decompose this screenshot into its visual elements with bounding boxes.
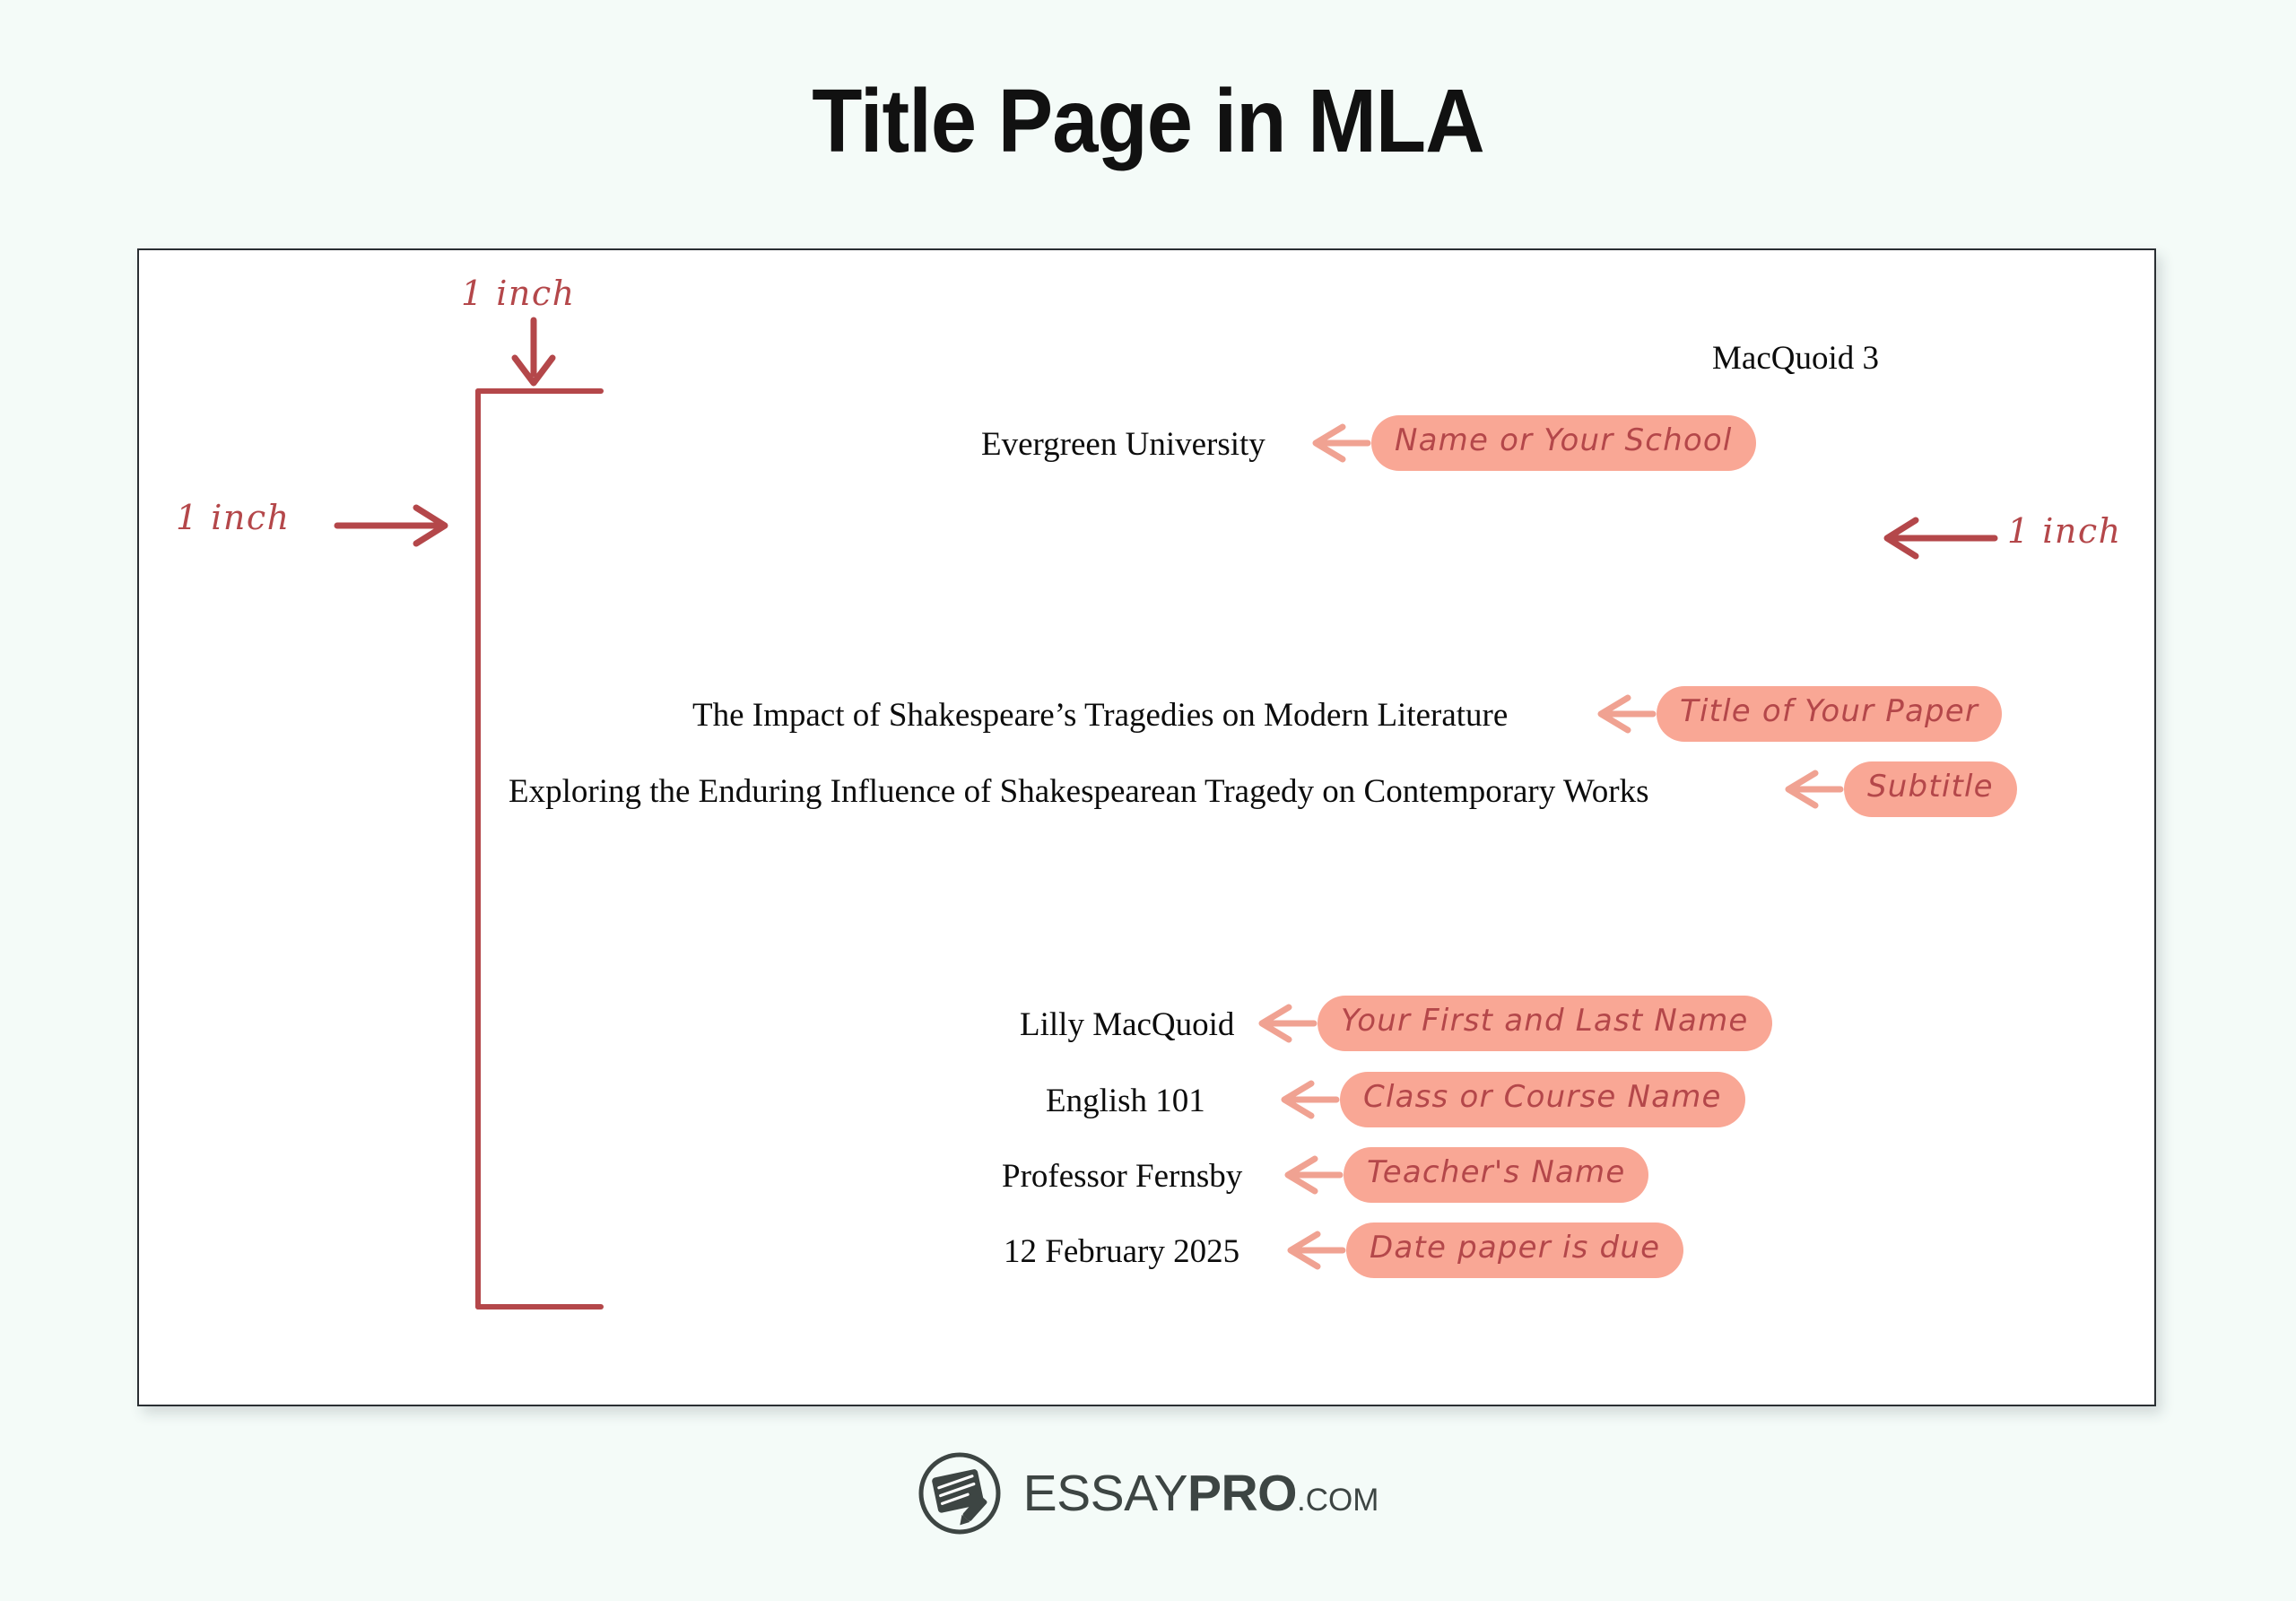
essaypro-mark-icon [918,1451,1002,1536]
paper-title: The Impact of Shakespeare’s Tragedies on… [692,696,1508,735]
annotation-subtitle: Subtitle [1785,764,2017,814]
annotation-label: Class or Course Name [1340,1072,1745,1127]
annotation-instructor: Teacher's Name [1284,1150,1648,1200]
arrow-left-icon [1785,768,1844,811]
arrow-left-icon [1287,1229,1346,1272]
arrow-left-icon [1882,513,1998,563]
running-head-page-number: MacQuoid 3 [1712,339,1879,378]
margin-label-right: 1 inch [2007,511,2122,551]
annotation-label: Date paper is due [1346,1223,1683,1277]
margin-label-left: 1 inch [176,498,291,537]
annotation-label: Name or Your School [1371,415,1756,470]
paper-school-name: Evergreen University [981,425,1265,464]
annotation-label: Subtitle [1844,761,2017,816]
annotation-due-date: Date paper is due [1287,1225,1683,1275]
arrow-right-icon [334,500,450,551]
annotation-label: Title of Your Paper [1657,686,2002,741]
paper-student-name: Lilly MacQuoid [1020,1005,1234,1044]
page-title: Title Page in MLA [91,70,2204,173]
arrow-left-icon [1258,1002,1318,1045]
logo-text-essay: ESSAY [1023,1464,1187,1523]
annotation-course: Class or Course Name [1281,1075,1745,1125]
arrow-left-icon [1284,1153,1344,1196]
paper-subtitle: Exploring the Enduring Influence of Shak… [509,772,1649,811]
annotation-label: Teacher's Name [1344,1147,1648,1202]
paper-course-name: English 101 [1046,1082,1205,1120]
paper-instructor-name: Professor Fernsby [1002,1157,1242,1196]
arrow-left-icon [1281,1078,1340,1121]
annotation-student-name: Your First and Last Name [1258,998,1772,1048]
annotation-title: Title of Your Paper [1597,689,2002,739]
essaypro-logo: ESSAYPRO.COM [0,1451,2296,1536]
logo-text-dotcom: .COM [1297,1483,1378,1518]
arrow-down-icon [502,318,565,388]
arrow-left-icon [1312,422,1371,465]
annotation-label: Your First and Last Name [1318,996,1772,1050]
essaypro-wordmark: ESSAYPRO.COM [1023,1464,1379,1523]
paper-due-date: 12 February 2025 [1004,1232,1239,1271]
margin-label-top: 1 inch [461,274,576,313]
logo-text-pro: PRO [1187,1464,1297,1523]
annotation-school: Name or Your School [1312,418,1756,468]
arrow-left-icon [1597,692,1657,735]
